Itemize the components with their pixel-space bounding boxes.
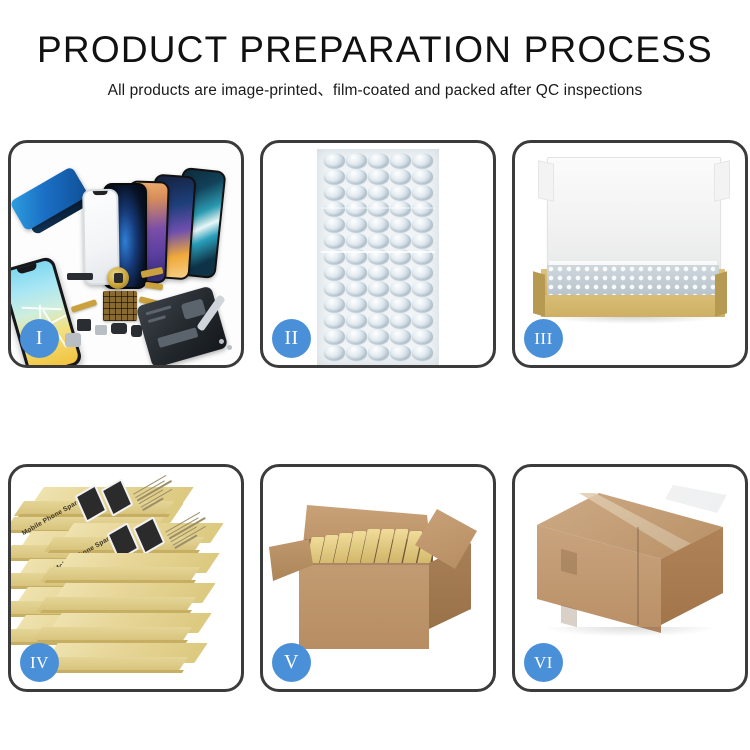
step-panel-3: III (512, 140, 748, 368)
stacked-box-front-2 (55, 613, 205, 647)
carton-tab-lower (561, 605, 577, 628)
step-badge-4: IV (20, 643, 59, 682)
small-part-4-icon (131, 325, 142, 337)
speaker-coil-part-icon (107, 267, 129, 289)
step-panel-2: II (260, 140, 496, 368)
screw-1-icon (219, 339, 224, 344)
carton-shadow (543, 627, 719, 637)
step-panel-5: V (260, 464, 496, 692)
stacked-box-front-4 (63, 553, 213, 587)
small-part-3-icon (111, 323, 127, 334)
stacked-box-front-5: Mobile Phone Spare Parts (67, 523, 217, 557)
small-part-6-icon (65, 333, 81, 347)
header: PRODUCT PREPARATION PROCESS All products… (0, 28, 750, 101)
tray-right-flap-icon (715, 271, 727, 316)
grid-chip-part-icon (103, 291, 137, 321)
carton-corner-seam (637, 527, 639, 625)
tray-front-icon (541, 295, 725, 317)
step-badge-6: VI (524, 643, 563, 682)
stacked-box-front-3 (59, 583, 209, 617)
stacked-box-top: Mobile Phone Spare Parts (37, 487, 187, 521)
tray-left-flap-icon (533, 271, 545, 316)
step-panel-4: Mobile Phone Spare Parts (8, 464, 244, 692)
box-shadow (545, 317, 721, 324)
phone-back-housing-icon (136, 285, 229, 365)
carton-front-edge (299, 563, 429, 565)
stacked-box-front-1 (51, 643, 201, 677)
step-panel-6: VI (512, 464, 748, 692)
step-badge-2: II (272, 319, 311, 358)
step-panel-1: I (8, 140, 244, 368)
small-part-2-icon (77, 319, 91, 331)
carton-front-face-icon (299, 563, 429, 649)
flex-cable-3-icon (71, 299, 98, 313)
carton-stretch-film-icon (665, 485, 727, 513)
flex-cable-2-icon (145, 282, 164, 290)
page-title: PRODUCT PREPARATION PROCESS (0, 28, 750, 72)
bubble-wrap-icon (317, 149, 439, 365)
screw-2-icon (227, 345, 232, 350)
step-badge-3: III (524, 319, 563, 358)
step-badge-1: I (20, 319, 59, 358)
infographic-page: PRODUCT PREPARATION PROCESS All products… (0, 0, 750, 750)
small-part-1-icon (67, 273, 93, 280)
carton-tab-upper (561, 549, 577, 576)
step-badge-5: V (272, 643, 311, 682)
page-subtitle: All products are image-printed、film-coat… (0, 81, 750, 101)
small-part-5-icon (95, 325, 107, 335)
steps-grid: I (8, 140, 748, 692)
bubble-wrapped-item-icon (547, 265, 719, 295)
